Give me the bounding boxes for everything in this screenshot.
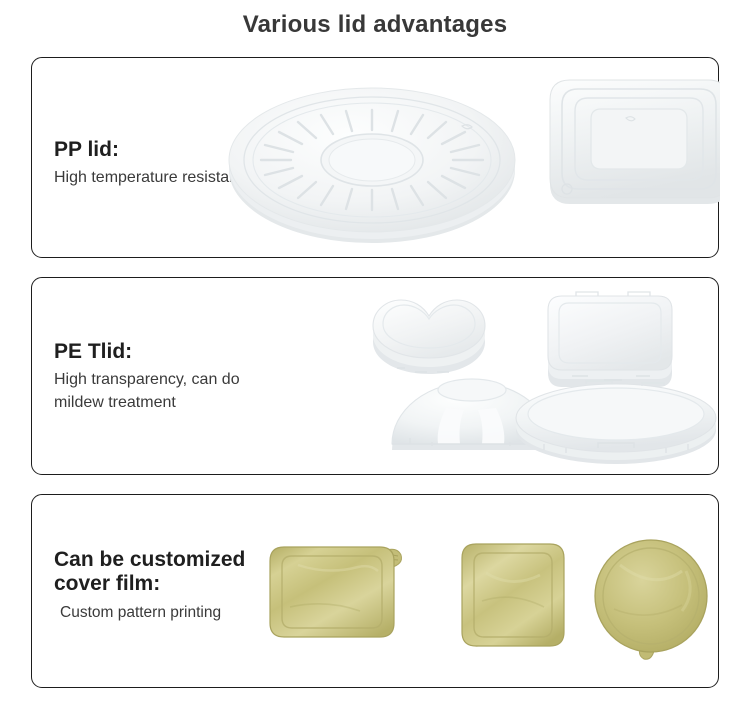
- pe-lid-heading: PE Tlid:: [54, 340, 240, 364]
- round-pp-lid-illustration: [229, 88, 515, 243]
- card-pp-lid: PP lid: High temperature resistance: [31, 57, 719, 258]
- pp-lid-heading: PP lid:: [54, 138, 255, 162]
- heart-pe-lid-illustration: [373, 300, 485, 374]
- card-pe-lid: PE Tlid: High transparency, can do milde…: [31, 277, 719, 475]
- gold-round-foil-lid-illustration: [595, 540, 707, 659]
- pe-lid-text-block: PE Tlid: High transparency, can do milde…: [54, 340, 240, 415]
- oval-pe-lid-illustration: [516, 381, 716, 464]
- pe-lid-subtext: High transparency, can do mildew treatme…: [54, 369, 240, 414]
- cover-film-text-block: Can be customized cover film: Custom pat…: [54, 548, 245, 624]
- page-title: Various lid advantages: [0, 11, 750, 39]
- pp-lid-text-block: PP lid: High temperature resistance: [54, 138, 255, 190]
- rectangular-pp-lid-illustration: [550, 80, 720, 204]
- pp-lid-subtext: High temperature resistance: [54, 167, 255, 190]
- dome-pe-lid-illustration: [392, 379, 552, 450]
- card-cover-film: Can be customized cover film: Custom pat…: [31, 494, 719, 688]
- square-pe-lid-illustration: [548, 292, 672, 387]
- cover-film-subtext: Custom pattern printing: [54, 602, 245, 624]
- gold-rectangular-foil-lid-illustration: [270, 547, 402, 637]
- cover-film-heading: Can be customized cover film:: [54, 548, 245, 597]
- gold-square-foil-lid-illustration: [462, 544, 564, 646]
